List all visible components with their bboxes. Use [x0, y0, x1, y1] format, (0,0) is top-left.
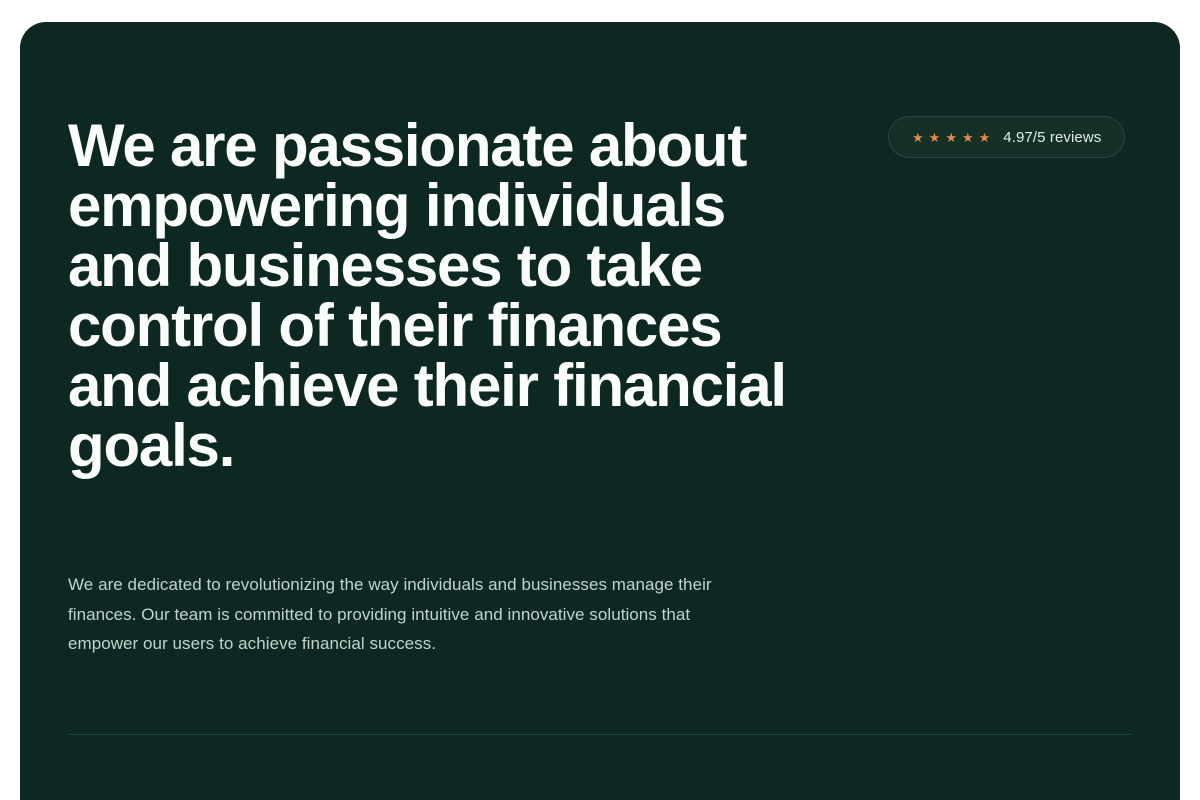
rating-stars: ★ ★ ★ ★ ★: [912, 131, 990, 144]
rating-label: 4.97/5 reviews: [1003, 130, 1101, 145]
hero-paragraph: We are dedicated to revolutionizing the …: [68, 570, 758, 659]
rating-badge[interactable]: ★ ★ ★ ★ ★ 4.97/5 reviews: [888, 116, 1125, 158]
section-divider: [68, 734, 1132, 735]
star-icon: ★: [945, 131, 957, 144]
star-icon: ★: [929, 131, 941, 144]
star-icon: ★: [979, 131, 991, 144]
star-icon: ★: [962, 131, 974, 144]
hero-card-inner: ★ ★ ★ ★ ★ 4.97/5 reviews We are passiona…: [20, 22, 1180, 800]
hero-card: ★ ★ ★ ★ ★ 4.97/5 reviews We are passiona…: [20, 22, 1180, 800]
page-root: ★ ★ ★ ★ ★ 4.97/5 reviews We are passiona…: [0, 0, 1200, 800]
star-icon: ★: [912, 131, 924, 144]
hero-heading: We are passionate about empowering indiv…: [68, 116, 798, 476]
